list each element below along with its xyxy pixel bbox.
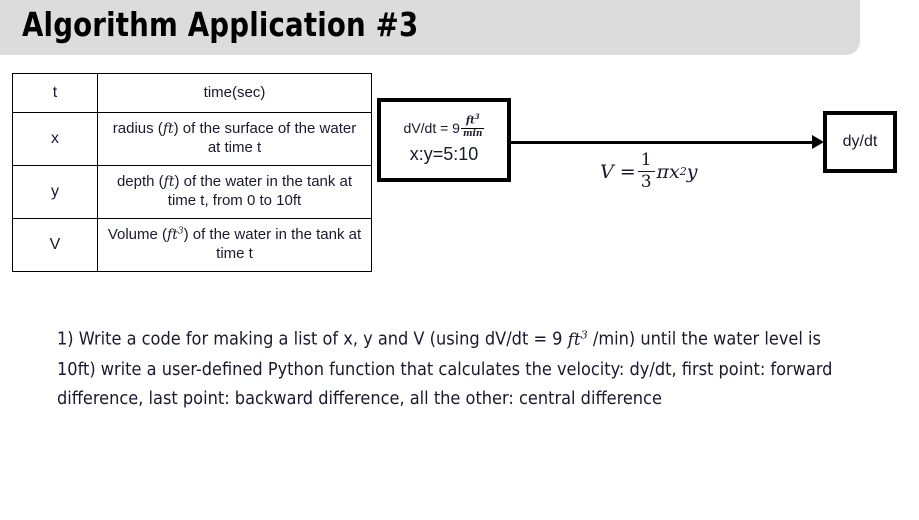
title-banner: Algorithm Application #3 (0, 0, 860, 55)
description-cell-x: radius (ft) of the surface of the water … (98, 113, 372, 166)
output-label: dy/dt (843, 133, 878, 151)
ratio-label: x:y=5:10 (410, 144, 479, 165)
flow-rate-label: dV/dt = 9 (404, 121, 460, 135)
unit-base: ft (568, 330, 581, 350)
symbol-cell-v: V (13, 219, 98, 272)
formula-lhs: V = (600, 161, 636, 183)
symbol-cell-t: t (13, 74, 98, 113)
table-row: y depth (ft) of the water in the tank at… (13, 166, 372, 219)
numerator-exponent: 3 (475, 112, 480, 121)
fraction-numerator: ft3 (464, 113, 482, 127)
fraction-denominator: min (461, 128, 485, 139)
page-title: Algorithm Application #3 (22, 5, 418, 44)
unit-ft: ft (164, 174, 175, 190)
fraction-numerator: 1 (638, 152, 655, 171)
description-cell-v: Volume (ft3) of the water in the tank at… (98, 219, 372, 272)
description-post: ) of the water in the tank at time t (184, 226, 362, 262)
flow-rate-unit-fraction: ft3 min (461, 113, 485, 138)
flow-rate-expression: dV/dt = 9 ft3 min (404, 115, 485, 140)
definition-table: t time(sec) x radius (ft) of the surface… (12, 73, 372, 272)
unit-exponent: 3 (581, 328, 588, 341)
description-cell-y: depth (ft) of the water in the tank at t… (98, 166, 372, 219)
description-pre: depth ( (117, 173, 164, 190)
formula-rhs-tail: y (687, 161, 698, 183)
numerator-base: ft (466, 116, 475, 127)
fraction-denominator: 3 (638, 171, 655, 191)
description-post: ) of the water in the tank at time t, fr… (168, 173, 352, 209)
symbol-cell-y: y (13, 166, 98, 219)
description-cell-t: time(sec) (98, 74, 372, 113)
table-row: t time(sec) (13, 74, 372, 113)
description-post: ) of the surface of the water at time t (174, 120, 357, 156)
formula-fraction: 1 3 (638, 152, 655, 191)
input-condition-box: dV/dt = 9 ft3 min x:y=5:10 (377, 98, 511, 182)
question-part1: 1) Write a code for making a list of x, … (57, 329, 568, 350)
unit-base: ft (167, 227, 178, 243)
formula-exponent: 2 (680, 165, 687, 178)
output-result-box: dy/dt (823, 111, 897, 173)
unit-ft: ft (163, 121, 174, 137)
question-paragraph: 1) Write a code for making a list of x, … (57, 320, 847, 413)
unit-ft-cubed: ft3 (167, 227, 184, 243)
symbol-cell-x: x (13, 113, 98, 166)
description-pre: radius ( (113, 120, 163, 137)
flow-arrow-line (511, 141, 816, 144)
description-text: time(sec) (204, 84, 266, 101)
volume-formula: V = 1 3 πx2y (600, 152, 697, 191)
table-row: V Volume (ft3) of the water in the tank … (13, 219, 372, 272)
description-pre: Volume ( (108, 226, 167, 243)
formula-rhs-pi-x: πx (657, 161, 680, 183)
question-unit-ft-cubed: ft3 (568, 330, 588, 350)
table-row: x radius (ft) of the surface of the wate… (13, 113, 372, 166)
